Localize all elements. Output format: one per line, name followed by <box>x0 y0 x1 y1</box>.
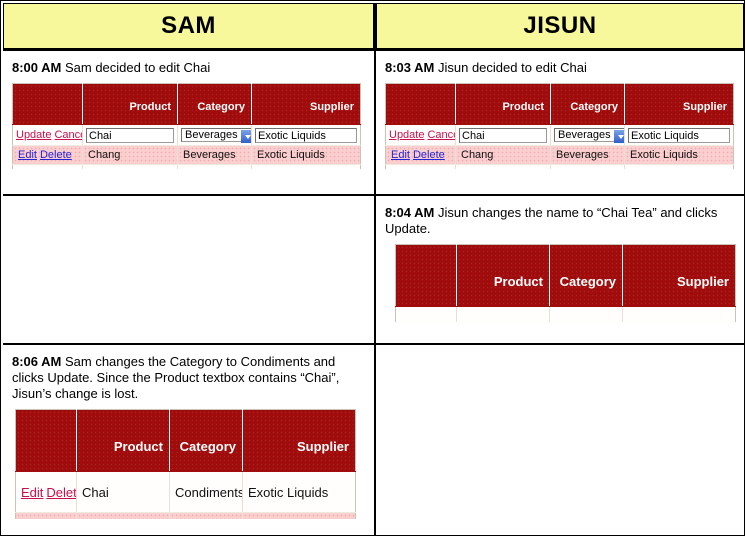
delete-link[interactable]: Delete <box>413 168 445 169</box>
edit-row-commands[interactable]: UpdateCancel <box>386 125 456 146</box>
row-supplier: Exotic Liquids <box>623 307 736 323</box>
products-grid-jisun-8-03[interactable]: Product Category Supplier UpdateCancel C… <box>385 83 734 169</box>
row-supplier: Exotic Liquids <box>243 472 356 513</box>
row-category: Condiments <box>551 165 625 170</box>
storyboard-frame: SAM JISUN 8:00 AM Sam decided to edit Ch… <box>0 0 745 536</box>
grid-col-commands <box>13 84 83 125</box>
products-grid-sam-8-00[interactable]: Product Category Supplier UpdateCancel C… <box>12 83 361 169</box>
edit-row-commands[interactable]: UpdateCancel <box>13 125 83 146</box>
chevron-down-icon[interactable] <box>614 130 625 142</box>
chevron-down-icon[interactable] <box>241 130 252 142</box>
panel-caption: 8:00 AM Sam decided to edit Chai <box>12 60 366 76</box>
edit-link[interactable]: Edit <box>401 320 423 323</box>
grid-col-category: Category <box>550 245 623 307</box>
grid-header-row: Product Category Supplier <box>396 245 736 307</box>
delete-link[interactable]: Delete <box>426 320 456 323</box>
row-product: Aniseed Syrup <box>83 165 178 170</box>
grid-col-commands <box>396 245 457 307</box>
row-supplier: Exotic Liquids <box>252 165 361 170</box>
edit-row-supplier-cell[interactable]: Exotic Liquids <box>252 125 361 146</box>
grid-header-row: Product Category Supplier <box>13 84 361 125</box>
panel-text: Sam decided to edit Chai <box>61 60 210 75</box>
person-name-sam: SAM <box>161 12 216 40</box>
grid-clip: Product Category Supplier EditDelete Cha… <box>395 244 736 322</box>
grid-col-product: Product <box>77 410 170 472</box>
delete-link[interactable]: Delete <box>413 149 445 161</box>
grid-header-row: Product Category Supplier <box>386 84 734 125</box>
table-row[interactable]: EditDelete Chai Condiments Exotic Liquid… <box>16 472 356 513</box>
row-product: Chang <box>456 146 551 165</box>
panel-jisun-empty <box>376 345 744 535</box>
panel-sam-8-00: 8:00 AM Sam decided to edit Chai Product… <box>3 51 374 194</box>
row-category: Beverages <box>178 146 252 165</box>
row-product: Chai Tea <box>457 307 550 323</box>
edit-link[interactable]: Edit <box>18 168 37 169</box>
category-dropdown-value: Beverages <box>185 129 238 141</box>
grid-col-category: Category <box>170 410 243 472</box>
panel-time: 8:03 AM <box>385 60 434 75</box>
grid-header-row: Product Category Supplier <box>16 410 356 472</box>
products-grid-jisun-8-04[interactable]: Product Category Supplier EditDelete Cha… <box>395 244 736 322</box>
edit-link[interactable]: Edit <box>18 149 37 161</box>
row-supplier: Exotic Liquids <box>252 146 361 165</box>
edit-row-supplier-cell[interactable]: Exotic Liquids <box>625 125 734 146</box>
row-product: Aniseed Syrup <box>456 165 551 170</box>
grid-edit-row[interactable]: UpdateCancel Chai Beverages Exotic Liqui… <box>386 125 734 146</box>
table-row[interactable]: EditDelete Aniseed Syrup Condiments Exot… <box>13 165 361 170</box>
grid-col-category: Category <box>551 84 625 125</box>
cancel-link[interactable]: Cancel <box>54 129 82 141</box>
panel-jisun-8-04: 8:04 AM Jisun changes the name to “Chai … <box>376 196 744 343</box>
table-row[interactable]: EditDelete Chang Beverages Exotic Liquid… <box>13 146 361 165</box>
panel-sam-8-06: 8:06 AM Sam changes the Category to Cond… <box>3 345 374 535</box>
edit-row-category-cell[interactable]: Beverages <box>178 125 252 146</box>
row-category: Condiments <box>178 165 252 170</box>
row-product: Chai <box>77 472 170 513</box>
supplier-textbox[interactable]: Exotic Liquids <box>255 128 357 143</box>
delete-link[interactable]: Delete <box>40 168 72 169</box>
grid-clip: Product Category Supplier UpdateCancel C… <box>385 83 736 169</box>
delete-link[interactable]: Delete <box>40 149 72 161</box>
category-dropdown-value: Beverages <box>558 129 611 141</box>
grid-col-supplier: Supplier <box>243 410 356 472</box>
panel-caption: 8:06 AM Sam changes the Category to Cond… <box>12 354 366 402</box>
row-commands[interactable]: EditDelete <box>386 146 456 165</box>
row-category: Beverages <box>550 307 623 323</box>
row-supplier: Exotic Liquids <box>625 146 734 165</box>
grid-col-commands <box>386 84 456 125</box>
grid-clip: Product Category Supplier EditDelete Cha… <box>15 409 366 519</box>
update-link[interactable]: Update <box>16 129 51 141</box>
person-name-jisun: JISUN <box>523 12 596 40</box>
row-commands[interactable]: EditDelete <box>16 472 77 513</box>
grid-col-product: Product <box>83 84 178 125</box>
grid-edit-row[interactable]: UpdateCancel Chai Beverages Exotic Liqui… <box>13 125 361 146</box>
panel-text: Jisun changes the name to “Chai Tea” and… <box>385 205 717 236</box>
supplier-textbox[interactable]: Exotic Liquids <box>628 128 730 143</box>
row-category: Beverages <box>551 146 625 165</box>
row-commands[interactable]: EditDelete <box>396 307 457 323</box>
table-row[interactable]: EditDelete Chang Beverages Exotic Liquid… <box>16 513 356 520</box>
category-dropdown[interactable]: Beverages <box>181 128 252 142</box>
row-commands[interactable]: EditDelete <box>13 146 83 165</box>
grid-col-product: Product <box>457 245 550 307</box>
grid-clip: Product Category Supplier UpdateCancel C… <box>12 83 366 169</box>
category-dropdown[interactable]: Beverages <box>554 128 625 142</box>
column-header-sam: SAM <box>3 3 374 49</box>
grid-col-commands <box>16 410 77 472</box>
panel-text: Sam changes the Category to Condiments a… <box>12 354 339 401</box>
grid-col-product: Product <box>456 84 551 125</box>
row-supplier: Exotic Liquids <box>625 165 734 170</box>
grid-col-supplier: Supplier <box>623 245 736 307</box>
edit-link[interactable]: Edit <box>21 485 43 500</box>
panel-time: 8:04 AM <box>385 205 434 220</box>
grid-col-category: Category <box>178 84 252 125</box>
row-commands[interactable]: EditDelete <box>13 165 83 170</box>
table-row[interactable]: EditDelete Chai Tea Beverages Exotic Liq… <box>396 307 736 323</box>
edit-row-product-cell[interactable]: Chai <box>456 125 551 146</box>
panel-caption: 8:04 AM Jisun changes the name to “Chai … <box>385 205 736 237</box>
storyboard-grid: SAM JISUN 8:00 AM Sam decided to edit Ch… <box>3 3 744 535</box>
table-row[interactable]: EditDelete Aniseed Syrup Condiments Exot… <box>386 165 734 170</box>
row-product: Chang <box>77 513 170 520</box>
panel-jisun-8-03: 8:03 AM Jisun decided to edit Chai Produ… <box>376 51 744 194</box>
table-row[interactable]: EditDelete Chang Beverages Exotic Liquid… <box>386 146 734 165</box>
row-category: Beverages <box>170 513 243 520</box>
cancel-link[interactable]: Cancel <box>427 129 455 141</box>
product-textbox[interactable]: Chai <box>86 128 174 143</box>
panel-text: Jisun decided to edit Chai <box>434 60 586 75</box>
panel-time: 8:06 AM <box>12 354 61 369</box>
edit-link[interactable]: Edit <box>391 149 410 161</box>
products-grid-sam-8-06[interactable]: Product Category Supplier EditDelete Cha… <box>15 409 356 519</box>
update-link[interactable]: Update <box>389 129 424 141</box>
row-product: Chang <box>83 146 178 165</box>
edit-row-category-cell[interactable]: Beverages <box>551 125 625 146</box>
row-commands[interactable]: EditDelete <box>386 165 456 170</box>
panel-caption: 8:03 AM Jisun decided to edit Chai <box>385 60 736 76</box>
delete-link[interactable]: Delete <box>46 485 76 500</box>
edit-link[interactable]: Edit <box>391 168 410 169</box>
panel-time: 8:00 AM <box>12 60 61 75</box>
grid-col-supplier: Supplier <box>252 84 361 125</box>
column-header-jisun: JISUN <box>376 3 744 49</box>
edit-row-product-cell[interactable]: Chai <box>83 125 178 146</box>
row-supplier: Exotic Liquids <box>243 513 356 520</box>
product-textbox[interactable]: Chai <box>459 128 547 143</box>
row-category: Condiments <box>170 472 243 513</box>
row-commands[interactable]: EditDelete <box>16 513 77 520</box>
panel-sam-empty <box>3 196 374 343</box>
grid-col-supplier: Supplier <box>625 84 734 125</box>
